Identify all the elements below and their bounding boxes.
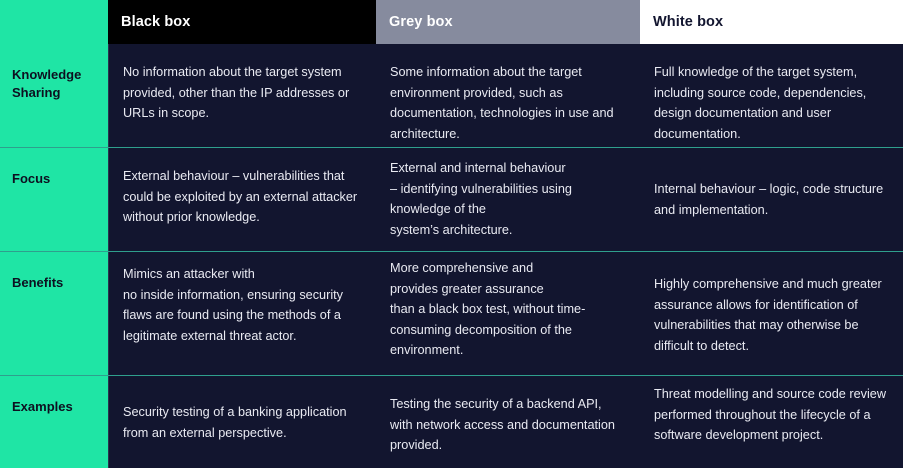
cell-examples-white-box: Threat modelling and source code review …: [640, 376, 903, 468]
cell-focus-black-box: External behaviour – vulnerabilities tha…: [109, 148, 376, 251]
cell-benefits-black-box: Mimics an attacker with no inside inform…: [109, 252, 376, 375]
cell-examples-black-box: Security testing of a banking applicatio…: [109, 376, 376, 468]
cell-benefits-white-box: Highly comprehensive and much greater as…: [640, 252, 903, 375]
row-cells: Mimics an attacker with no inside inform…: [108, 252, 903, 375]
row-label-benefits: Benefits: [0, 252, 108, 375]
row-label-examples: Examples: [0, 376, 108, 468]
cell-text: External behaviour – vulnerabilities tha…: [123, 166, 360, 228]
cell-text: External and internal behaviour – identi…: [390, 158, 624, 240]
cell-text: Full knowledge of the target system, inc…: [654, 62, 887, 144]
comparison-table: Black box Grey box White box Knowledge S…: [0, 0, 903, 468]
table-header-corner: [0, 0, 108, 44]
table-row: Benefits Mimics an attacker with no insi…: [0, 252, 903, 376]
cell-focus-grey-box: External and internal behaviour – identi…: [376, 148, 640, 251]
row-label-focus: Focus: [0, 148, 108, 251]
table-row: Knowledge Sharing No information about t…: [0, 44, 903, 148]
cell-text: Testing the security of a backend API, w…: [390, 394, 624, 456]
cell-text: Threat modelling and source code review …: [654, 384, 887, 446]
row-cells: Security testing of a banking applicatio…: [108, 376, 903, 468]
cell-examples-grey-box: Testing the security of a backend API, w…: [376, 376, 640, 468]
table-row: Examples Security testing of a banking a…: [0, 376, 903, 468]
cell-text: Internal behaviour – logic, code structu…: [654, 179, 887, 220]
cell-knowledge-sharing-grey-box: Some information about the target enviro…: [376, 44, 640, 147]
row-cells: External behaviour – vulnerabilities tha…: [108, 148, 903, 251]
table-row: Focus External behaviour – vulnerabiliti…: [0, 148, 903, 252]
column-header-grey-box: Grey box: [376, 0, 640, 44]
row-label-knowledge-sharing: Knowledge Sharing: [0, 44, 108, 147]
row-cells: No information about the target system p…: [108, 44, 903, 147]
cell-knowledge-sharing-white-box: Full knowledge of the target system, inc…: [640, 44, 903, 147]
cell-text: More comprehensive and provides greater …: [390, 258, 624, 361]
table-header-row: Black box Grey box White box: [0, 0, 903, 44]
cell-text: Security testing of a banking applicatio…: [123, 402, 360, 443]
table-body: Knowledge Sharing No information about t…: [0, 44, 903, 468]
cell-text: Some information about the target enviro…: [390, 62, 624, 144]
cell-text: Highly comprehensive and much greater as…: [654, 274, 887, 356]
cell-text: No information about the target system p…: [123, 62, 360, 124]
cell-text: Mimics an attacker with no inside inform…: [123, 264, 360, 346]
cell-focus-white-box: Internal behaviour – logic, code structu…: [640, 148, 903, 251]
cell-benefits-grey-box: More comprehensive and provides greater …: [376, 252, 640, 375]
cell-knowledge-sharing-black-box: No information about the target system p…: [109, 44, 376, 147]
column-header-black-box: Black box: [108, 0, 376, 44]
column-header-white-box: White box: [640, 0, 903, 44]
